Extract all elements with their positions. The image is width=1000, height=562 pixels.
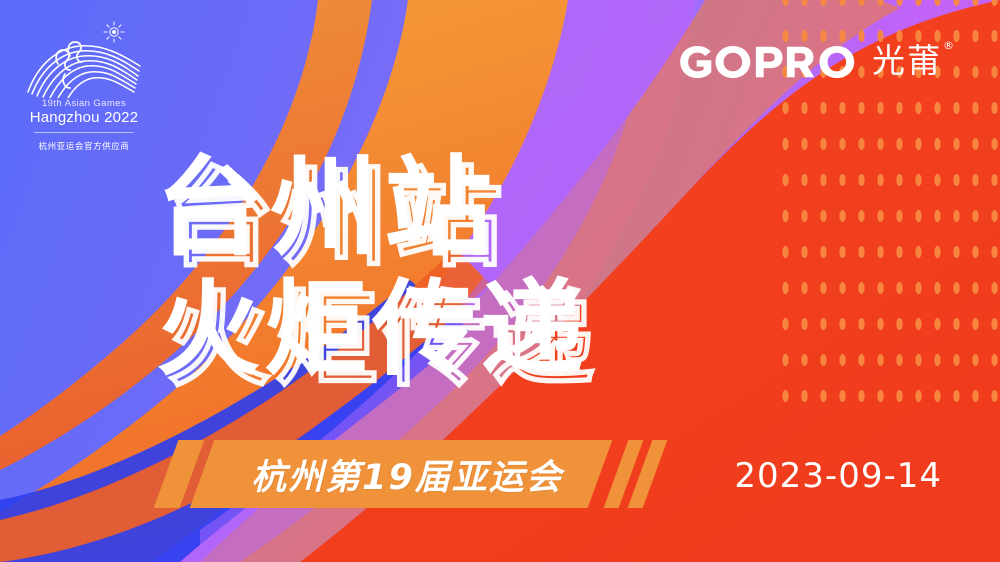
brand-chinese-name: 光莆 ® (872, 44, 942, 78)
headline-block: 台州站 台州站 火炬传递 火炬传递 (156, 150, 776, 400)
hangzhou-emblem-icon (24, 30, 144, 98)
headline-line-1: 台州站 (156, 150, 498, 268)
headline-line-1-row: 台州站 台州站 (156, 150, 776, 278)
headline-line-2: 火炬传递 (156, 270, 588, 388)
band-label: 杭州第19届亚运会 (222, 440, 592, 508)
event-poster: 19th Asian Games Hangzhou 2022 杭州亚运会官方供应… (0, 0, 1000, 562)
emblem-line-2: Hangzhou 2022 (22, 109, 146, 126)
event-date: 2023-09-14 (734, 456, 942, 496)
registered-trademark-icon: ® (943, 40, 956, 51)
gopro-wordmark-icon (678, 44, 858, 80)
brand-chinese-text: 光莆 (872, 41, 942, 80)
brand-lockup: 光莆 ® (678, 44, 942, 80)
hangzhou-2022-emblem: 19th Asian Games Hangzhou 2022 杭州亚运会官方供应… (22, 8, 146, 160)
emblem-supplier-label: 杭州亚运会官方供应商 (22, 140, 146, 152)
emblem-line-1: 19th Asian Games (22, 98, 146, 109)
emblem-divider (34, 132, 134, 133)
headline-line-2-row: 火炬传递 火炬传递 (156, 270, 776, 400)
